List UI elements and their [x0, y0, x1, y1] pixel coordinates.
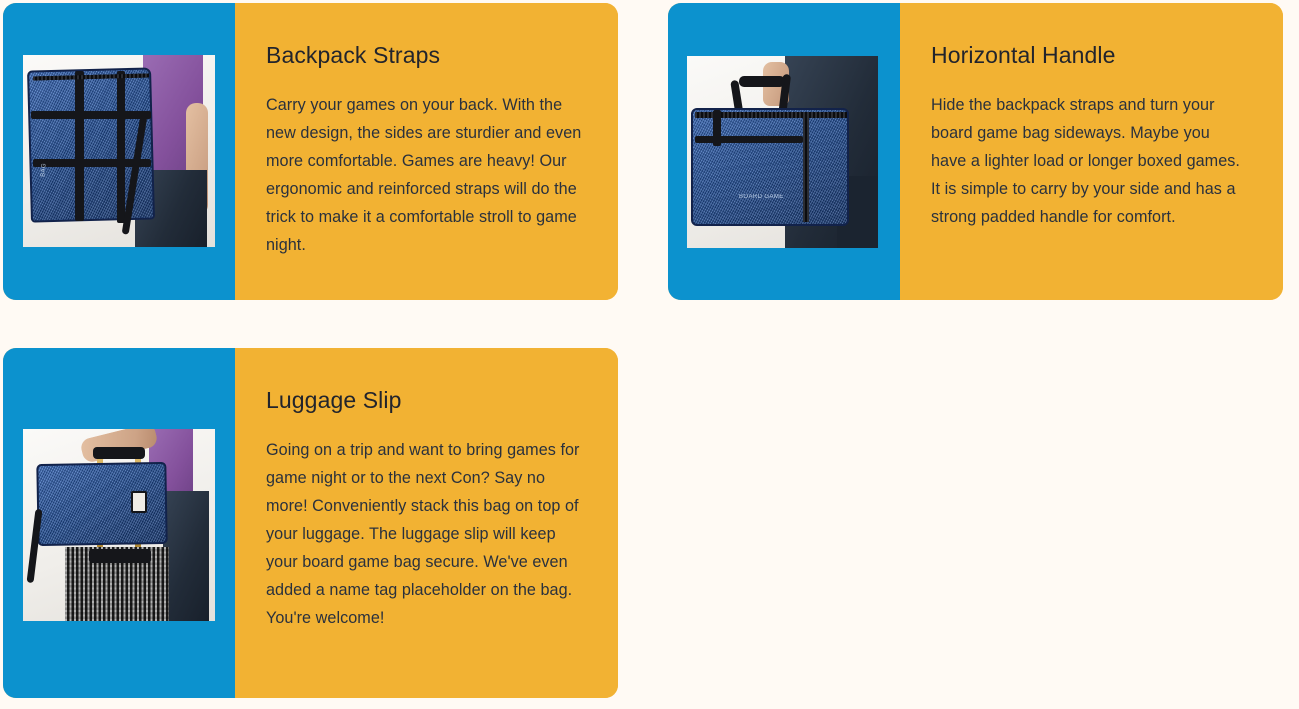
photo-strap-vertical-right	[117, 71, 125, 223]
card-media-panel	[3, 348, 235, 698]
feature-card-horizontal-handle[interactable]: BOARD GAME Horizontal Handle Hide the ba…	[668, 3, 1283, 300]
card-title: Luggage Slip	[266, 387, 584, 413]
product-photo-luggage-slip	[23, 429, 215, 621]
photo-luggage-handle-grip	[93, 447, 145, 459]
card-description: Carry your games on your back. With the …	[266, 91, 584, 259]
product-photo-horizontal-handle: BOARD GAME	[687, 56, 878, 248]
photo-handle-grip	[739, 76, 785, 87]
product-photo-backpack-straps: BAG	[23, 55, 215, 247]
card-title: Backpack Straps	[266, 42, 584, 68]
feature-card-backpack-straps[interactable]: BAG Backpack Straps Carry your games on …	[3, 3, 618, 300]
photo-name-tag-placeholder	[131, 491, 147, 513]
feature-card-luggage-slip[interactable]: Luggage Slip Going on a trip and want to…	[3, 348, 618, 698]
photo-bag	[36, 462, 167, 546]
card-description: Hide the backpack straps and turn your b…	[931, 91, 1249, 231]
photo-jeans	[163, 491, 209, 621]
card-media-panel: BAG	[3, 3, 235, 300]
feature-card-grid: BAG Backpack Straps Carry your games on …	[0, 0, 1299, 709]
card-content-luggage-slip: Luggage Slip Going on a trip and want to…	[235, 348, 618, 698]
card-media-panel: BOARD GAME	[668, 3, 900, 300]
photo-luggage-top-bar	[89, 549, 151, 563]
card-content-horizontal-handle: Horizontal Handle Hide the backpack stra…	[900, 3, 1283, 300]
photo-strap-vertical-left	[75, 71, 84, 221]
photo-strap-band	[695, 136, 803, 143]
photo-strap-horizontal-top	[31, 111, 151, 119]
card-title: Horizontal Handle	[931, 42, 1249, 68]
card-description: Going on a trip and want to bring games …	[266, 436, 584, 632]
photo-brand-mark: BOARD GAME	[739, 194, 784, 200]
photo-side-strap	[713, 110, 721, 146]
photo-zipper-side	[803, 118, 809, 222]
card-content-backpack-straps: Backpack Straps Carry your games on your…	[235, 3, 618, 300]
